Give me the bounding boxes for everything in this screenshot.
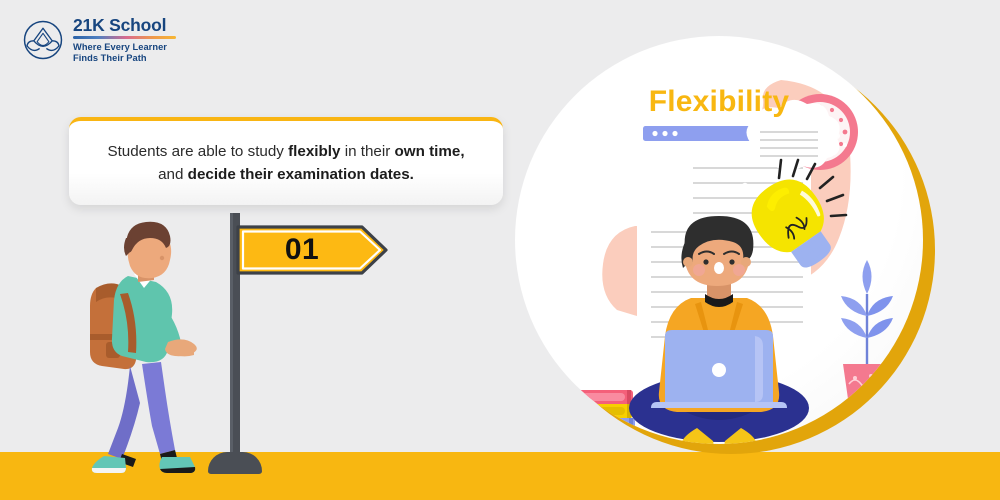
lotus-circle-logo-icon xyxy=(22,19,64,61)
brand-text: 21K School Where Every Learner Finds The… xyxy=(73,16,176,64)
brand-name: 21K School xyxy=(73,17,176,35)
illustration-circle: Flexibility xyxy=(515,36,923,444)
slide-canvas: 21K School Where Every Learner Finds The… xyxy=(0,0,1000,500)
signpost-base xyxy=(208,452,262,474)
brand-logo[interactable]: 21K School Where Every Learner Finds The… xyxy=(22,16,176,64)
callout-text: Students are able to study flexibly in t… xyxy=(69,140,503,186)
stacked-books xyxy=(529,390,635,432)
panel-title: Flexibility xyxy=(515,85,923,119)
walking-student-illustration xyxy=(76,216,206,476)
brand-tagline: Where Every Learner Finds Their Path xyxy=(73,42,176,65)
potted-plant xyxy=(841,260,893,416)
brand-gradient-rule xyxy=(73,36,176,39)
callout-card: Students are able to study flexibly in t… xyxy=(69,117,503,205)
signpost-number-sign[interactable]: 01 xyxy=(236,225,388,275)
signpost-number-label: 01 xyxy=(236,225,356,275)
brand-tagline-line2: Finds Their Path xyxy=(73,53,147,63)
brand-tagline-line1: Where Every Learner xyxy=(73,42,167,52)
